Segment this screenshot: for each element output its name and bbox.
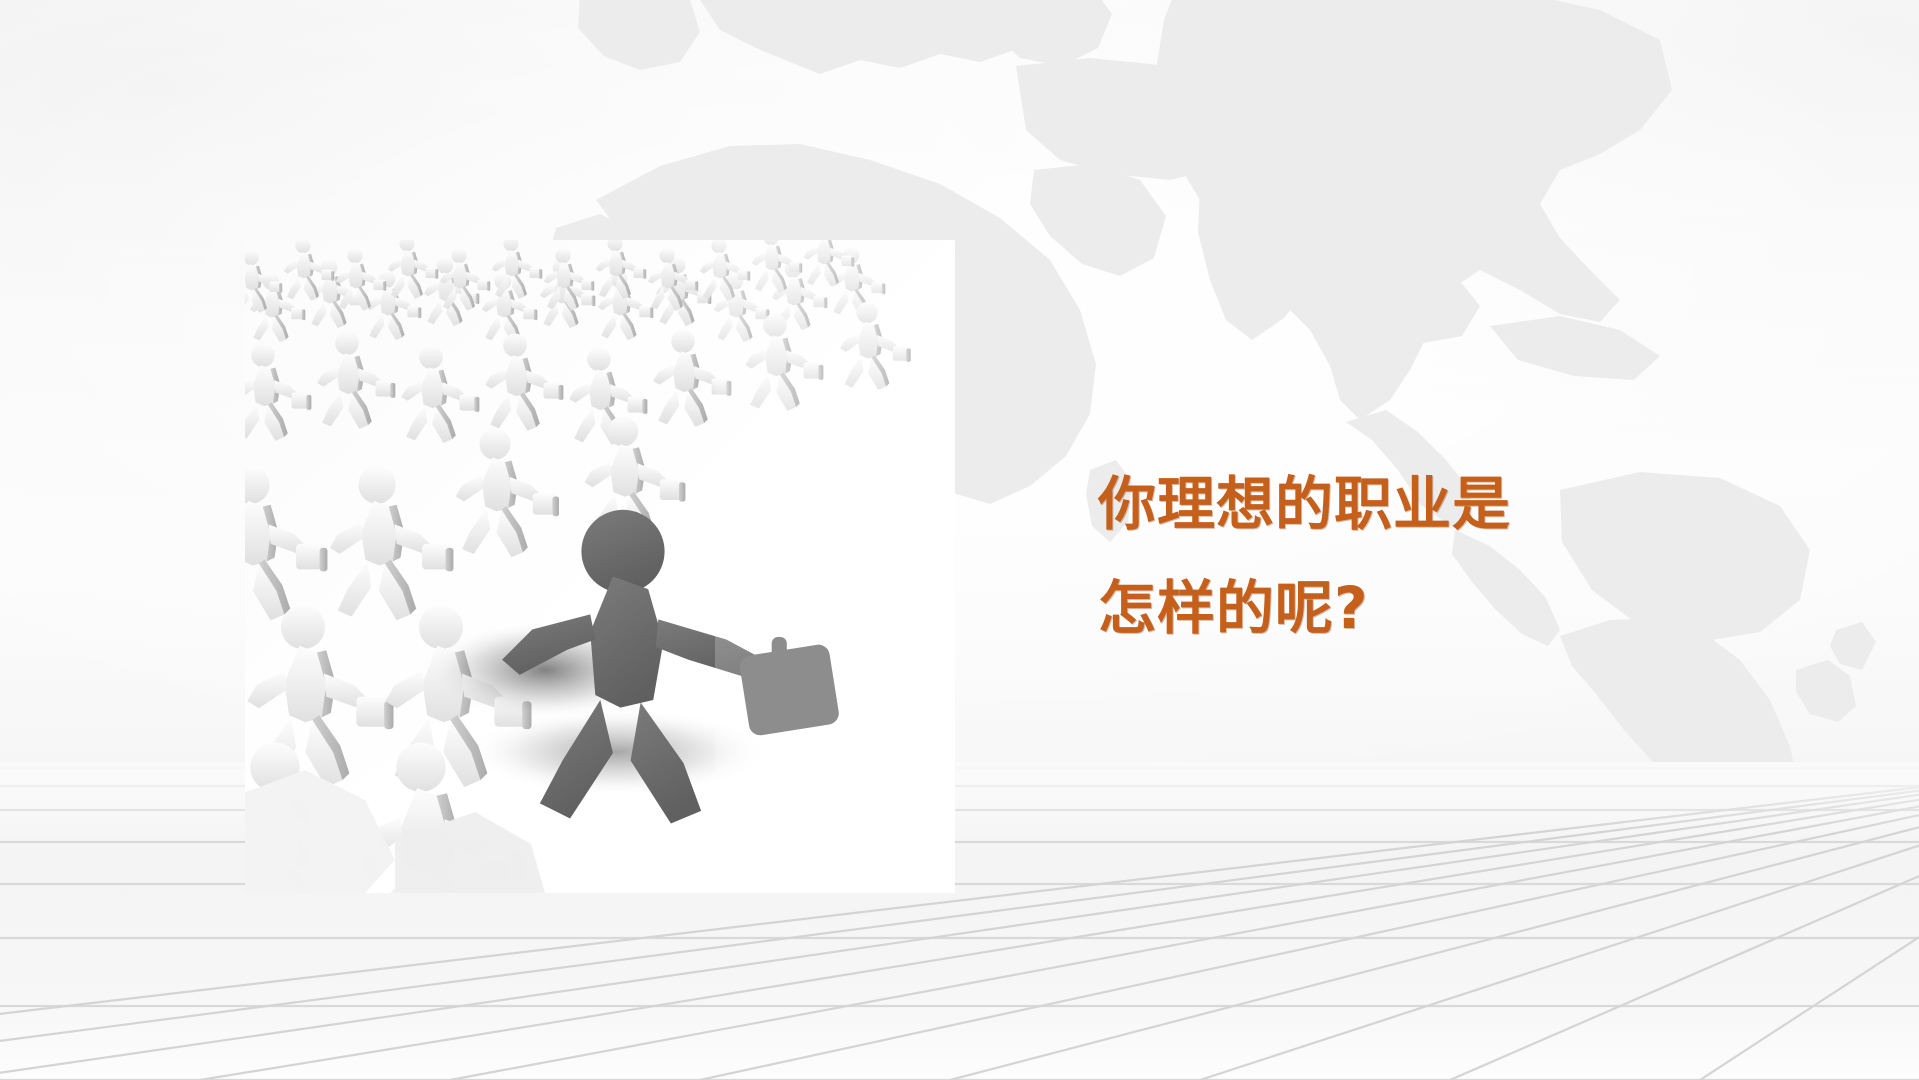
slide-canvas: 你理想的职业是 怎样的呢? [0, 0, 1919, 1080]
hero-image [245, 240, 955, 893]
headline-block: 你理想的职业是 怎样的呢? [1098, 452, 1618, 660]
headline-line-2: 怎样的呢? [1098, 556, 1618, 660]
headline-line-1: 你理想的职业是 [1098, 452, 1618, 556]
